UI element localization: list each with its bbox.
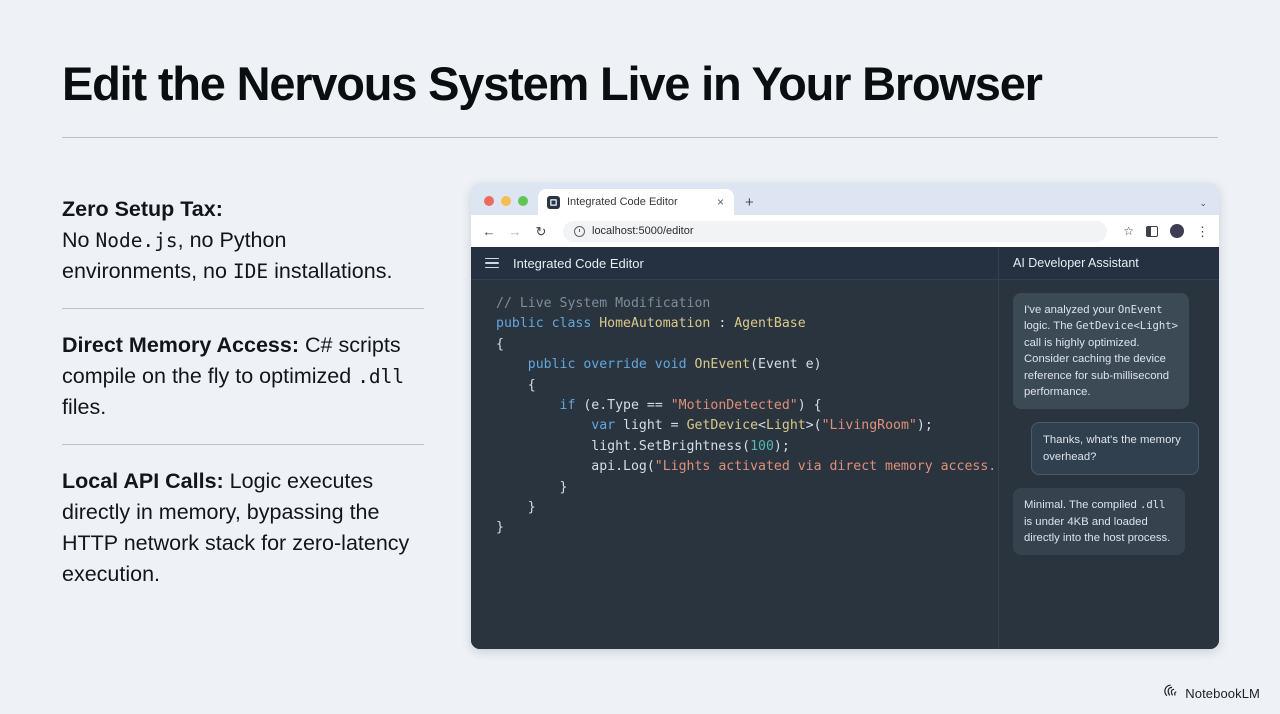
code-token: : bbox=[710, 316, 734, 331]
feature-divider bbox=[62, 308, 424, 309]
code-token: ); bbox=[917, 418, 933, 433]
chat-text: is under 4KB and loaded directly into th… bbox=[1024, 516, 1170, 544]
feature-heading: Local API Calls: bbox=[62, 469, 224, 493]
code-line: } bbox=[496, 498, 998, 518]
browser-tab-strip: Integrated Code Editor × + ⌄ bbox=[471, 183, 1219, 215]
code-token: if bbox=[560, 398, 576, 413]
chat-code-token: .dll bbox=[1140, 499, 1166, 511]
app-header-right: AI Developer Assistant bbox=[999, 247, 1219, 279]
code-line: { bbox=[496, 376, 998, 396]
code-token: < bbox=[758, 418, 766, 433]
close-window-button[interactable] bbox=[484, 196, 494, 206]
feature-item-zero-setup: Zero Setup Tax: No Node.js, no Python en… bbox=[62, 194, 424, 287]
code-token: } bbox=[496, 500, 536, 515]
code-line: var light = GetDevice<Light>("LivingRoom… bbox=[496, 416, 998, 436]
feature-text: Local API Calls: Logic executes directly… bbox=[62, 466, 424, 590]
app-header-left: Integrated Code Editor bbox=[471, 247, 999, 279]
browser-menu-icon[interactable]: ⋮ bbox=[1196, 225, 1209, 238]
feature-item-local-api: Local API Calls: Logic executes directly… bbox=[62, 466, 424, 590]
feature-body-part: No bbox=[62, 228, 95, 252]
app-title: Integrated Code Editor bbox=[513, 256, 644, 271]
feature-item-direct-memory: Direct Memory Access: C# scripts compile… bbox=[62, 330, 424, 423]
code-editor[interactable]: // Live System Modificationpublic class … bbox=[471, 280, 999, 649]
browser-window: Integrated Code Editor × + ⌄ ← → ↻ local… bbox=[471, 183, 1219, 649]
code-line: } bbox=[496, 518, 998, 538]
title-divider bbox=[62, 137, 1218, 138]
app-header: Integrated Code Editor AI Developer Assi… bbox=[471, 247, 1219, 280]
code-token: (e.Type == bbox=[575, 398, 670, 413]
chat-text: I've analyzed your bbox=[1024, 304, 1118, 316]
code-line: public override void OnEvent(Event e) bbox=[496, 355, 998, 375]
site-info-icon[interactable] bbox=[574, 226, 585, 237]
avatar[interactable] bbox=[1170, 224, 1184, 238]
chat-message-user: Thanks, what's the memory overhead? bbox=[1031, 422, 1199, 475]
code-token: 100 bbox=[750, 439, 774, 454]
feature-body-part: files. bbox=[62, 395, 106, 419]
hamburger-icon[interactable] bbox=[485, 258, 499, 269]
code-line: api.Log("Lights activated via direct mem… bbox=[496, 457, 998, 477]
code-token: { bbox=[496, 337, 504, 352]
code-token: >( bbox=[806, 418, 822, 433]
feature-code-token: IDE bbox=[233, 260, 268, 283]
code-editor-favicon-icon bbox=[547, 196, 560, 209]
feature-code-token: .dll bbox=[357, 365, 404, 388]
code-token: light = bbox=[615, 418, 686, 433]
chat-code-token: OnEvent bbox=[1118, 304, 1163, 316]
code-token: public override void bbox=[496, 357, 695, 372]
code-token: "MotionDetected" bbox=[671, 398, 798, 413]
app-body: // Live System Modificationpublic class … bbox=[471, 280, 1219, 649]
forward-button[interactable]: → bbox=[508, 225, 522, 238]
feature-code-token: Node.js bbox=[95, 229, 177, 252]
code-token: "LivingRoom" bbox=[822, 418, 917, 433]
code-token: ); bbox=[774, 439, 790, 454]
maximize-window-button[interactable] bbox=[518, 196, 528, 206]
code-line: public class HomeAutomation : AgentBase bbox=[496, 314, 998, 334]
code-line: // Live System Modification bbox=[496, 294, 998, 314]
chat-code-token: GetDevice<Light> bbox=[1076, 320, 1178, 332]
close-tab-button[interactable]: × bbox=[715, 196, 726, 208]
chat-text: call is highly optimized. Consider cachi… bbox=[1024, 337, 1169, 398]
feature-heading: Direct Memory Access: bbox=[62, 333, 299, 357]
browser-toolbar: ← → ↻ localhost:5000/editor ☆ ⋮ bbox=[471, 215, 1219, 247]
code-line: { bbox=[496, 335, 998, 355]
feature-divider bbox=[62, 444, 424, 445]
code-token: } bbox=[496, 480, 567, 495]
browser-tab[interactable]: Integrated Code Editor × bbox=[538, 189, 734, 215]
chat-message-ai: Minimal. The compiled .dll is under 4KB … bbox=[1013, 488, 1185, 555]
code-line: } bbox=[496, 478, 998, 498]
code-token: light.SetBrightness( bbox=[496, 439, 750, 454]
toolbar-actions: ☆ ⋮ bbox=[1123, 224, 1209, 238]
feature-body-part: installations. bbox=[268, 259, 392, 283]
new-tab-button[interactable]: + bbox=[745, 195, 754, 210]
page-title: Edit the Nervous System Live in Your Bro… bbox=[62, 56, 1042, 111]
code-token: api.Log( bbox=[496, 459, 655, 474]
code-token: ( bbox=[750, 357, 758, 372]
code-token: ) { bbox=[798, 398, 822, 413]
chat-text: logic. The bbox=[1024, 320, 1076, 332]
bookmark-star-icon[interactable]: ☆ bbox=[1123, 225, 1134, 237]
code-token: HomeAutomation bbox=[599, 316, 710, 331]
code-token bbox=[496, 418, 591, 433]
feature-text: Direct Memory Access: C# scripts compile… bbox=[62, 330, 424, 423]
address-bar[interactable]: localhost:5000/editor bbox=[563, 221, 1107, 242]
chevron-down-icon[interactable]: ⌄ bbox=[1199, 199, 1207, 208]
code-token bbox=[496, 398, 560, 413]
chat-message-ai: I've analyzed your OnEvent logic. The Ge… bbox=[1013, 293, 1189, 409]
back-button[interactable]: ← bbox=[482, 225, 496, 238]
code-token: e) bbox=[798, 357, 822, 372]
feature-list: Zero Setup Tax: No Node.js, no Python en… bbox=[62, 194, 424, 590]
chat-text: Minimal. The compiled bbox=[1024, 499, 1140, 511]
code-line: if (e.Type == "MotionDetected") { bbox=[496, 396, 998, 416]
notebooklm-logo-icon bbox=[1163, 684, 1179, 702]
code-line: light.SetBrightness(100); bbox=[496, 437, 998, 457]
code-token: GetDevice bbox=[687, 418, 758, 433]
minimize-window-button[interactable] bbox=[501, 196, 511, 206]
address-bar-url: localhost:5000/editor bbox=[592, 225, 694, 237]
reload-button[interactable]: ↻ bbox=[534, 225, 548, 238]
chat-text: Thanks, what's the memory overhead? bbox=[1043, 434, 1181, 462]
brand-footer: NotebookLM bbox=[1163, 684, 1260, 702]
code-token: public class bbox=[496, 316, 599, 331]
code-token: var bbox=[591, 418, 615, 433]
side-panel-icon[interactable] bbox=[1146, 226, 1158, 237]
browser-tab-title: Integrated Code Editor bbox=[567, 196, 708, 208]
code-token: { bbox=[496, 378, 536, 393]
code-token: // Live System Modification bbox=[496, 296, 710, 311]
code-token: AgentBase bbox=[734, 316, 805, 331]
assistant-panel-title: AI Developer Assistant bbox=[1013, 256, 1139, 270]
code-token: OnEvent bbox=[695, 357, 751, 372]
code-token: } bbox=[496, 520, 504, 535]
code-token: "Lights activated via direct memory acce… bbox=[655, 459, 999, 474]
code-token: Event bbox=[758, 357, 798, 372]
assistant-chat-panel: I've analyzed your OnEvent logic. The Ge… bbox=[999, 280, 1219, 649]
feature-text: Zero Setup Tax: No Node.js, no Python en… bbox=[62, 194, 424, 287]
brand-name: NotebookLM bbox=[1185, 686, 1260, 701]
window-controls bbox=[480, 196, 538, 215]
feature-heading: Zero Setup Tax: bbox=[62, 197, 223, 221]
code-token: Light bbox=[766, 418, 806, 433]
editor-app: Integrated Code Editor AI Developer Assi… bbox=[471, 247, 1219, 649]
